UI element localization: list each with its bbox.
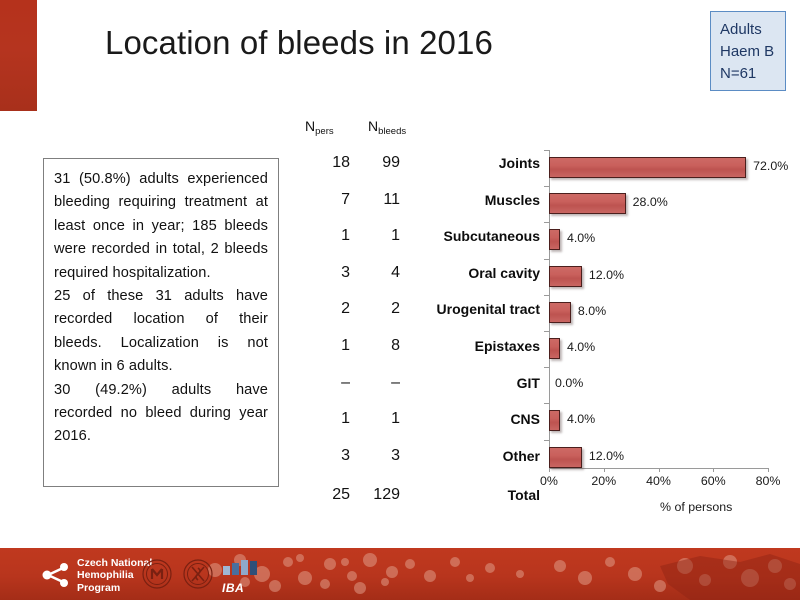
cell-npers: 3 bbox=[296, 264, 350, 282]
chart-x-tick bbox=[768, 468, 769, 472]
chart-bar[interactable] bbox=[549, 229, 560, 250]
cell-npers: 1 bbox=[296, 337, 350, 355]
cell-location-label: CNS bbox=[404, 411, 540, 427]
cell-location-label: Muscles bbox=[404, 192, 540, 208]
table-total-row: 25129Total bbox=[296, 478, 544, 515]
chart-x-tick bbox=[659, 468, 660, 472]
cell-location-label: Joints bbox=[404, 155, 540, 171]
chart-y-tick bbox=[544, 295, 549, 296]
cell-location-label: Total bbox=[404, 487, 540, 503]
chart-y-tick bbox=[544, 367, 549, 368]
chart-plot-area: 72.0%28.0%4.0%12.0%8.0%4.0%0.0%4.0%12.0%… bbox=[540, 148, 772, 472]
chart-x-tick-label: 60% bbox=[693, 474, 733, 488]
iba-label: IBA bbox=[222, 581, 264, 595]
table-header-row: Npers Nbleeds bbox=[296, 118, 544, 146]
iba-bars-icon bbox=[222, 559, 264, 576]
cell-location-label: Urogenital tract bbox=[404, 301, 540, 317]
cell-location-label: Epistaxes bbox=[404, 338, 540, 354]
cell-npers: 7 bbox=[296, 191, 350, 209]
chart-bar-value-label: 4.0% bbox=[567, 231, 595, 245]
cohort-badge-line-3: N=61 bbox=[720, 63, 785, 85]
chart-x-tick bbox=[604, 468, 605, 472]
chart-x-tick-label: 80% bbox=[748, 474, 788, 488]
bleed-percentage-bar-chart: 72.0%28.0%4.0%12.0%8.0%4.0%0.0%4.0%12.0%… bbox=[540, 148, 790, 518]
chart-y-tick bbox=[544, 259, 549, 260]
table-row: 33Other bbox=[296, 439, 544, 476]
chart-bar[interactable] bbox=[549, 157, 746, 178]
masaryk-university-seal-icon bbox=[142, 559, 172, 589]
chart-x-tick-label: 0% bbox=[529, 474, 569, 488]
cell-nbleeds: 11 bbox=[354, 191, 400, 209]
narrative-paragraph-2: 25 of these 31 adults have recorded loca… bbox=[54, 285, 268, 379]
slide-footer: Czech National Hemophilia Program IBA bbox=[0, 548, 800, 600]
chart-bar-value-label: 4.0% bbox=[567, 340, 595, 354]
column-header-npers: Npers bbox=[305, 118, 334, 134]
cell-location-label: Other bbox=[404, 448, 540, 464]
chart-bar-value-label: 4.0% bbox=[567, 412, 595, 426]
chart-bar-value-label: 12.0% bbox=[589, 449, 624, 463]
logo-text-line-2: Hemophilia bbox=[77, 569, 152, 581]
iba-logo: IBA bbox=[222, 559, 264, 595]
chart-bar-value-label: 12.0% bbox=[589, 268, 624, 282]
cell-location-label: Oral cavity bbox=[404, 265, 540, 281]
logo-text-line-1: Czech National bbox=[77, 557, 152, 569]
chart-y-tick bbox=[544, 222, 549, 223]
chart-bar[interactable] bbox=[549, 302, 571, 323]
cell-nbleeds: 2 bbox=[354, 300, 400, 318]
chart-x-tick bbox=[549, 468, 550, 472]
cell-npers: 18 bbox=[296, 154, 350, 172]
chart-y-tick bbox=[544, 150, 549, 151]
chart-bar[interactable] bbox=[549, 193, 626, 214]
chart-bar[interactable] bbox=[549, 266, 582, 287]
cell-npers: 1 bbox=[296, 227, 350, 245]
narrative-paragraph-1: 31 (50.8%) adults experienced bleeding r… bbox=[54, 168, 268, 285]
column-header-nbleeds: Nbleeds bbox=[368, 118, 406, 134]
narrative-paragraph-3: 30 (49.2%) adults have recorded no bleed… bbox=[54, 379, 268, 473]
chart-bar-value-label: 28.0% bbox=[633, 195, 668, 209]
cell-location-label: GIT bbox=[404, 375, 540, 391]
table-row: 11CNS bbox=[296, 402, 544, 439]
bleed-location-table: Npers Nbleeds 1899Joints711Muscles11Subc… bbox=[296, 118, 544, 515]
table-row: ––GIT bbox=[296, 366, 544, 403]
table-row: 18Epistaxes bbox=[296, 329, 544, 366]
cohort-badge-line-2: Haem B bbox=[720, 41, 785, 63]
chart-y-tick bbox=[544, 331, 549, 332]
cohort-badge: Adults Haem B N=61 bbox=[710, 11, 786, 91]
chart-y-tick bbox=[544, 186, 549, 187]
table-row: 34Oral cavity bbox=[296, 256, 544, 293]
chart-x-tick-label: 40% bbox=[639, 474, 679, 488]
chart-bar[interactable] bbox=[549, 410, 560, 431]
cell-location-label: Subcutaneous bbox=[404, 228, 540, 244]
molecule-logo-icon bbox=[40, 560, 70, 590]
table-row: 1899Joints bbox=[296, 146, 544, 183]
cell-nbleeds: 1 bbox=[354, 410, 400, 428]
cell-nbleeds: 1 bbox=[354, 227, 400, 245]
chart-y-tick bbox=[544, 403, 549, 404]
table-row: 11Subcutaneous bbox=[296, 219, 544, 256]
cohort-badge-line-1: Adults bbox=[720, 19, 785, 41]
logo-text-line-3: Program bbox=[77, 582, 152, 594]
medical-faculty-seal-icon bbox=[183, 559, 213, 589]
narrative-textbox: 31 (50.8%) adults experienced bleeding r… bbox=[43, 158, 279, 487]
cell-nbleeds: 129 bbox=[354, 486, 400, 504]
page-title: Location of bleeds in 2016 bbox=[105, 22, 625, 64]
cell-npers: 3 bbox=[296, 447, 350, 465]
cell-npers: 25 bbox=[296, 486, 350, 504]
cell-npers: – bbox=[296, 374, 350, 392]
chart-x-tick-label: 20% bbox=[584, 474, 624, 488]
cell-nbleeds: 3 bbox=[354, 447, 400, 465]
cell-npers: 2 bbox=[296, 300, 350, 318]
cell-nbleeds: – bbox=[354, 374, 400, 392]
chart-bar[interactable] bbox=[549, 338, 560, 359]
cell-nbleeds: 99 bbox=[354, 154, 400, 172]
table-row: 22Urogenital tract bbox=[296, 292, 544, 329]
chart-x-axis-label: % of persons bbox=[660, 500, 732, 514]
chart-bar-value-label: 0.0% bbox=[555, 376, 583, 390]
table-body: 1899Joints711Muscles11Subcutaneous34Oral… bbox=[296, 146, 544, 515]
chart-bar-value-label: 8.0% bbox=[578, 304, 606, 318]
decorative-red-block bbox=[0, 0, 37, 111]
chart-bar-value-label: 72.0% bbox=[753, 159, 788, 173]
cell-npers: 1 bbox=[296, 410, 350, 428]
cell-nbleeds: 4 bbox=[354, 264, 400, 282]
table-row: 711Muscles bbox=[296, 183, 544, 220]
chart-bar[interactable] bbox=[549, 447, 582, 468]
chart-y-tick bbox=[544, 440, 549, 441]
czech-national-hemophilia-program-logo: Czech National Hemophilia Program bbox=[40, 557, 152, 594]
cell-nbleeds: 8 bbox=[354, 337, 400, 355]
logo-text: Czech National Hemophilia Program bbox=[77, 557, 152, 594]
chart-x-tick bbox=[713, 468, 714, 472]
